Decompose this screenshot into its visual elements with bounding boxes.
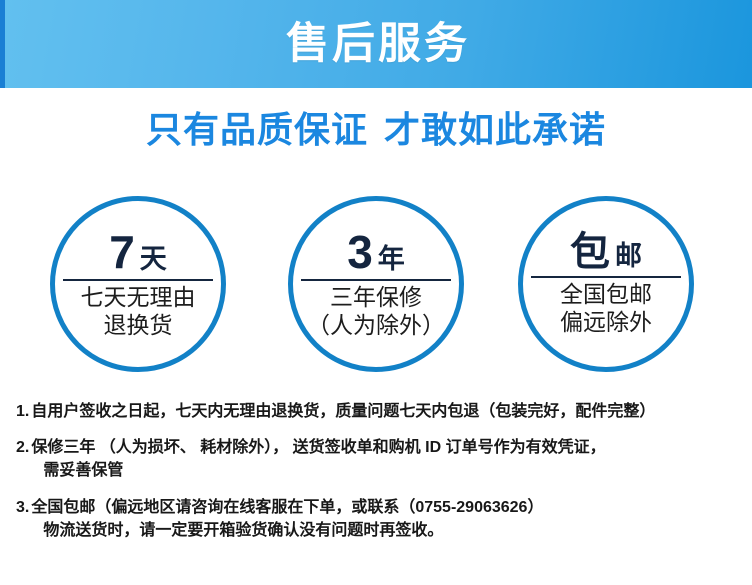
terms-item-number: 2.	[16, 436, 29, 459]
guarantee-badge-7day: 7 天 七天无理由 退换货	[50, 196, 226, 372]
terms-item-line-2: 需妥善保管	[31, 459, 742, 482]
badge-divider	[63, 279, 213, 281]
subtitle-part-2: 才敢如此承诺	[384, 109, 606, 150]
badge-description: 全国包邮 偏远除外	[560, 281, 652, 335]
badge-description-line-1: 七天无理由	[81, 284, 196, 311]
badge-headline-unit: 年	[378, 246, 405, 273]
terms-item-text: 全国包邮（偏远地区请咨询在线客服在下单，或联系（0755-29063626） 物…	[31, 496, 742, 542]
badge-headline-unit: 邮	[615, 243, 642, 270]
badge-headline: 包 邮	[570, 232, 642, 272]
guarantee-badge-free-shipping: 包 邮 全国包邮 偏远除外	[518, 196, 694, 372]
badge-divider	[531, 276, 681, 278]
badge-description-line-2: 退换货	[81, 312, 196, 339]
badge-headline-unit: 天	[140, 246, 167, 273]
terms-item-line-2: 物流送货时，请一定要开箱验货确认没有问题时再签收。	[31, 519, 742, 542]
badge-description-line-1: 三年保修	[307, 284, 445, 311]
subtitle-part-1: 只有品质保证	[146, 109, 368, 150]
badge-description-line-2: （人为除外）	[307, 312, 445, 339]
badge-description: 七天无理由 退换货	[81, 284, 196, 338]
badge-description-line-2: 偏远除外	[560, 309, 652, 336]
badge-headline-value: 3	[347, 229, 373, 275]
guarantee-badge-group: 7 天 七天无理由 退换货 3 年 三年保修 （人为除外） 包 邮 全国包邮 偏…	[0, 196, 752, 376]
badge-headline-value: 包	[570, 232, 610, 272]
terms-item-line-1: 自用户签收之日起，七天内无理由退换货，质量问题七天内包退（包装完好，配件完整）	[31, 400, 742, 423]
terms-list-item: 1. 自用户签收之日起，七天内无理由退换货，质量问题七天内包退（包装完好，配件完…	[16, 400, 742, 423]
header-banner: 售后服务	[0, 0, 752, 88]
terms-item-line-1: 全国包邮（偏远地区请咨询在线客服在下单，或联系（0755-29063626）	[31, 496, 742, 519]
page-title: 售后服务	[286, 23, 470, 66]
terms-item-text: 自用户签收之日起，七天内无理由退换货，质量问题七天内包退（包装完好，配件完整）	[31, 400, 742, 423]
badge-headline-value: 7	[109, 229, 135, 275]
badge-headline: 3 年	[347, 229, 405, 275]
terms-list-item: 2. 保修三年 （人为损坏、 耗材除外）， 送货签收单和购机 ID 订单号作为有…	[16, 436, 742, 482]
badge-description: 三年保修 （人为除外）	[307, 284, 445, 338]
badge-description-line-1: 全国包邮	[560, 281, 652, 308]
terms-list: 1. 自用户签收之日起，七天内无理由退换货，质量问题七天内包退（包装完好，配件完…	[16, 400, 742, 555]
subtitle: 只有品质保证才敢如此承诺	[0, 110, 752, 150]
terms-item-text: 保修三年 （人为损坏、 耗材除外）， 送货签收单和购机 ID 订单号作为有效凭证…	[31, 436, 742, 482]
terms-item-number: 1.	[16, 400, 29, 423]
terms-item-number: 3.	[16, 496, 29, 519]
guarantee-badge-3year: 3 年 三年保修 （人为除外）	[288, 196, 464, 372]
header-left-accent-bar	[0, 0, 5, 88]
terms-item-line-1: 保修三年 （人为损坏、 耗材除外）， 送货签收单和购机 ID 订单号作为有效凭证…	[31, 436, 742, 459]
terms-list-item: 3. 全国包邮（偏远地区请咨询在线客服在下单，或联系（0755-29063626…	[16, 496, 742, 542]
badge-divider	[301, 279, 451, 281]
badge-headline: 7 天	[109, 229, 167, 275]
